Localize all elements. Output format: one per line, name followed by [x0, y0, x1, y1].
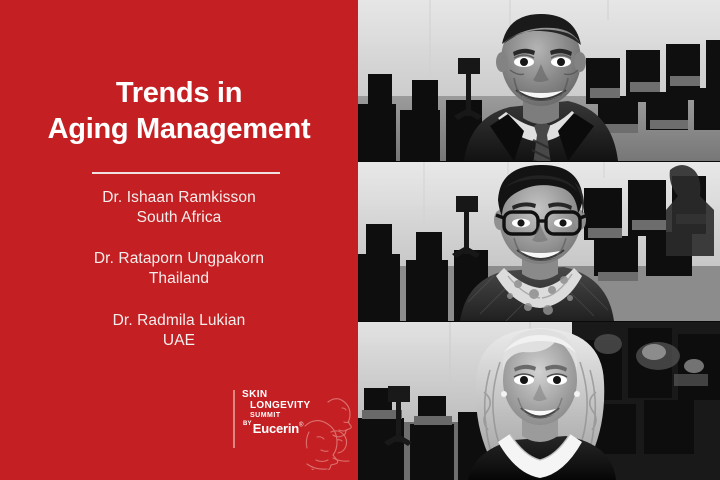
logo-divider-bar — [233, 390, 235, 448]
speaker-list: Dr. Ishaan Ramkisson South Africa Dr. Ra… — [0, 188, 358, 351]
speaker-photo-1 — [358, 0, 720, 161]
promo-slide: Trends in Aging Management Dr. Ishaan Ra… — [0, 0, 720, 480]
page-title: Trends in Aging Management — [0, 76, 358, 148]
speaker-photo-2 — [358, 162, 720, 321]
speaker-country: South Africa — [0, 208, 358, 228]
red-content-panel: Trends in Aging Management Dr. Ishaan Ra… — [0, 0, 358, 480]
title-line-2: Aging Management — [0, 112, 358, 148]
title-line-1: Trends in — [0, 76, 358, 112]
speaker-country: UAE — [0, 331, 358, 351]
title-divider-rule — [92, 172, 280, 174]
speaker-photo-stack — [358, 0, 720, 480]
speaker-entry-1: Dr. Ishaan Ramkisson South Africa — [0, 188, 358, 228]
logo-by-label: BY — [243, 421, 252, 427]
speaker-name: Dr. Radmila Lukian — [0, 311, 358, 331]
speaker-photo-3 — [358, 322, 720, 480]
speaker-country: Thailand — [0, 269, 358, 289]
speaker-name: Dr. Ishaan Ramkisson — [0, 188, 358, 208]
speaker-name: Dr. Rataporn Ungpakorn — [0, 249, 358, 269]
skin-longevity-summit-logo: SKIN LONGEVITY SUMMIT BYEucerin® — [233, 386, 355, 472]
speaker-entry-2: Dr. Rataporn Ungpakorn Thailand — [0, 249, 358, 289]
speaker-entry-3: Dr. Radmila Lukian UAE — [0, 311, 358, 351]
faces-line-art-icon — [287, 392, 358, 470]
